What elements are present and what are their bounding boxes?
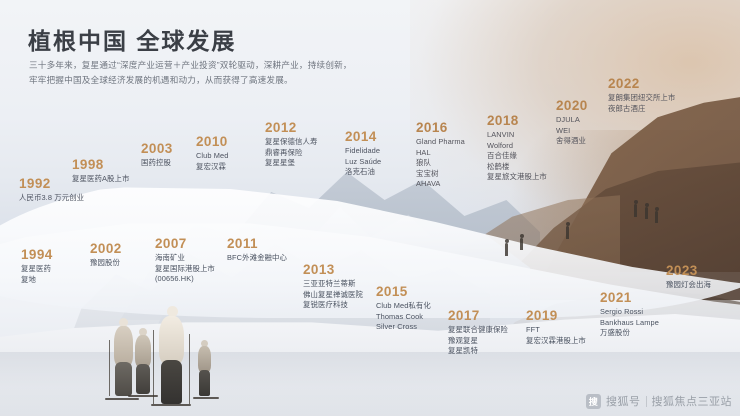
timeline-item: Club Med私有化 (376, 301, 431, 312)
timeline-items: 人民币3.8 万元创业 (19, 193, 84, 204)
timeline-item: 复宏汉霖 (196, 162, 228, 173)
timeline-year: 2013 (303, 262, 363, 277)
timeline-item: 复星国际港股上市 (155, 264, 215, 275)
timeline-item: 佛山复星禅诚医院 (303, 290, 363, 301)
timeline-items: DJULA WEI 舍得酒业 (556, 115, 588, 147)
timeline-year: 2014 (345, 129, 381, 144)
hiker-silhouette (520, 238, 523, 246)
timeline-year: 1994 (21, 247, 53, 262)
timeline-item: Club Med (196, 151, 228, 162)
timeline-items: 豫园灯会出海 (666, 280, 711, 291)
timeline-item: DJULA (556, 115, 588, 126)
timeline-year: 2021 (600, 290, 659, 305)
page-subtitle: 三十多年来，复星通过“深度产业运营＋产业投资”双轮驱动，深耕产业，持续创新， 牢… (29, 58, 449, 88)
timeline-items: 豫园股份 (90, 258, 122, 269)
timeline-item: 狼队 (416, 158, 465, 169)
timeline-entry-2016[interactable]: 2016 Gland Pharma HAL 狼队 宝宝树 AHAVA (416, 120, 465, 190)
hiker-silhouette (645, 207, 648, 215)
timeline-item: 松鹤楼 (487, 162, 547, 173)
timeline-entry-2020[interactable]: 2020 DJULA WEI 舍得酒业 (556, 98, 588, 147)
timeline-items: 三亚亚特兰蒂斯 佛山复星禅诚医院 复锐医疗科技 (303, 279, 363, 311)
timeline-item: 复锐医疗科技 (303, 300, 363, 311)
timeline-item: Gland Pharma (416, 137, 465, 148)
timeline-entry-2011[interactable]: 2011 BFC外滩金融中心 (227, 236, 287, 264)
timeline-item: 鼎睿再保险 (265, 148, 317, 159)
slide-canvas: 1992 人民币3.8 万元创业 1998 复星医药A股上市 2003 国药控股… (0, 0, 740, 416)
timeline-item: 豫园灯会出海 (666, 280, 711, 291)
timeline-items: Club Med 复宏汉霖 (196, 151, 228, 172)
timeline-entry-2017[interactable]: 2017 复星联合健康保险 豫观复星 复星凯特 (448, 308, 508, 357)
timeline-item: Sergio Rossi (600, 307, 659, 318)
timeline-entry-2013[interactable]: 2013 三亚亚特兰蒂斯 佛山复星禅诚医院 复锐医疗科技 (303, 262, 363, 311)
timeline-item: 万盛股份 (600, 328, 659, 339)
timeline-item: 复星旅文港股上市 (487, 172, 547, 183)
timeline-item: AHAVA (416, 179, 465, 190)
timeline-item: 舍得酒业 (556, 136, 588, 147)
hiker-silhouette (505, 243, 508, 252)
timeline-item: 豫观复星 (448, 336, 508, 347)
timeline-item: Fidelidade (345, 146, 381, 157)
timeline-entry-2018[interactable]: 2018 LANVIN Wolford 百合佳缘 松鹤楼 复星旅文港股上市 (487, 113, 547, 183)
timeline-entry-2012[interactable]: 2012 复星保德信人寿 鼎睿再保险 复星星堡 (265, 120, 317, 169)
timeline-entry-2019[interactable]: 2019 FFT 复宏汉霖港股上市 (526, 308, 586, 346)
timeline-entry-2022[interactable]: 2022 复朗集团纽交所上市 夜郎古酒庄 (608, 76, 675, 114)
timeline-items: 复星联合健康保险 豫观复星 复星凯特 (448, 325, 508, 357)
timeline-item: 宝宝树 (416, 169, 465, 180)
timeline-year: 1998 (72, 157, 129, 172)
timeline-entry-2023[interactable]: 2023 豫园灯会出海 (666, 263, 711, 291)
hiker-silhouette (655, 211, 658, 219)
timeline-item: 复星医药 (21, 264, 53, 275)
subtitle-line-1: 三十多年来，复星通过“深度产业运营＋产业投资”双轮驱动，深耕产业，持续创新， (29, 58, 449, 73)
timeline-item: FFT (526, 325, 586, 336)
timeline-year: 2017 (448, 308, 508, 323)
timeline-items: 国药控股 (141, 158, 173, 169)
timeline-year: 2016 (416, 120, 465, 135)
timeline-item: Wolford (487, 141, 547, 152)
timeline-entry-1998[interactable]: 1998 复星医药A股上市 (72, 157, 129, 185)
timeline-items: FFT 复宏汉霖港股上市 (526, 325, 586, 346)
timeline-year: 2015 (376, 284, 431, 299)
timeline-year: 2002 (90, 241, 122, 256)
timeline-items: 复朗集团纽交所上市 夜郎古酒庄 (608, 93, 675, 114)
skier-group (95, 300, 235, 410)
hiker-silhouette (634, 204, 637, 213)
sohu-logo-icon: 搜 (586, 394, 601, 409)
timeline-item: 复星凯特 (448, 346, 508, 357)
timeline-item: Thomas Cook (376, 312, 431, 323)
timeline-item: LANVIN (487, 130, 547, 141)
timeline-items: Gland Pharma HAL 狼队 宝宝树 AHAVA (416, 137, 465, 190)
timeline-entry-2010[interactable]: 2010 Club Med 复宏汉霖 (196, 134, 228, 172)
timeline-item: 豫园股份 (90, 258, 122, 269)
timeline-year: 2011 (227, 236, 287, 251)
timeline-item: Silver Cross (376, 322, 431, 333)
timeline-items: 复星医药 复地 (21, 264, 53, 285)
timeline-year: 2019 (526, 308, 586, 323)
timeline-item: (00656.HK) (155, 274, 215, 285)
timeline-entry-2007[interactable]: 2007 海南矿业 复星国际港股上市 (00656.HK) (155, 236, 215, 285)
timeline-year: 2003 (141, 141, 173, 156)
timeline-item: 百合佳缘 (487, 151, 547, 162)
timeline-item: 洛克石油 (345, 167, 381, 178)
timeline-year: 2018 (487, 113, 547, 128)
timeline-year: 2010 (196, 134, 228, 149)
timeline-entry-1994[interactable]: 1994 复星医药 复地 (21, 247, 53, 285)
hiker-silhouette (566, 226, 569, 235)
subtitle-line-2: 牢牢把握中国及全球经济发展的机遇和动力，从而获得了高速发展。 (29, 73, 449, 88)
timeline-year: 2022 (608, 76, 675, 91)
timeline-item: 海南矿业 (155, 253, 215, 264)
watermark-right-text: 搜狐焦点三亚站 (652, 393, 733, 409)
timeline-item: WEI (556, 126, 588, 137)
watermark: 搜 搜狐号 搜狐焦点三亚站 (586, 393, 732, 409)
timeline-items: 海南矿业 复星国际港股上市 (00656.HK) (155, 253, 215, 285)
timeline-entry-2014[interactable]: 2014 Fidelidade Luz Saúde 洛克石油 (345, 129, 381, 178)
timeline-item: Bankhaus Lampe (600, 318, 659, 329)
timeline-year: 2023 (666, 263, 711, 278)
timeline-items: Club Med私有化 Thomas Cook Silver Cross (376, 301, 431, 333)
timeline-entry-2015[interactable]: 2015 Club Med私有化 Thomas Cook Silver Cros… (376, 284, 431, 333)
timeline-item: 复星联合健康保险 (448, 325, 508, 336)
page-title: 植根中国 全球发展 (28, 22, 236, 56)
timeline-item: 人民币3.8 万元创业 (19, 193, 84, 204)
timeline-item: 复宏汉霖港股上市 (526, 336, 586, 347)
timeline-items: Sergio Rossi Bankhaus Lampe 万盛股份 (600, 307, 659, 339)
watermark-divider (646, 396, 647, 407)
timeline-item: 复星星堡 (265, 158, 317, 169)
timeline-item: 夜郎古酒庄 (608, 104, 675, 115)
timeline-item: HAL (416, 148, 465, 159)
timeline-item: 复星医药A股上市 (72, 174, 129, 185)
watermark-left-text: 搜狐号 (606, 393, 641, 409)
timeline-items: LANVIN Wolford 百合佳缘 松鹤楼 复星旅文港股上市 (487, 130, 547, 183)
timeline-items: 复星保德信人寿 鼎睿再保险 复星星堡 (265, 137, 317, 169)
timeline-year: 2012 (265, 120, 317, 135)
timeline-item: 国药控股 (141, 158, 173, 169)
timeline-year: 2020 (556, 98, 588, 113)
timeline-entry-2002[interactable]: 2002 豫园股份 (90, 241, 122, 269)
timeline-entry-2021[interactable]: 2021 Sergio Rossi Bankhaus Lampe 万盛股份 (600, 290, 659, 339)
timeline-item: 复地 (21, 275, 53, 286)
timeline-item: Luz Saúde (345, 157, 381, 168)
timeline-item: BFC外滩金融中心 (227, 253, 287, 264)
timeline-year: 2007 (155, 236, 215, 251)
timeline-items: 复星医药A股上市 (72, 174, 129, 185)
timeline-entry-2003[interactable]: 2003 国药控股 (141, 141, 173, 169)
timeline-items: Fidelidade Luz Saúde 洛克石油 (345, 146, 381, 178)
timeline-items: BFC外滩金融中心 (227, 253, 287, 264)
timeline-item: 复朗集团纽交所上市 (608, 93, 675, 104)
timeline-item: 复星保德信人寿 (265, 137, 317, 148)
timeline-item: 三亚亚特兰蒂斯 (303, 279, 363, 290)
